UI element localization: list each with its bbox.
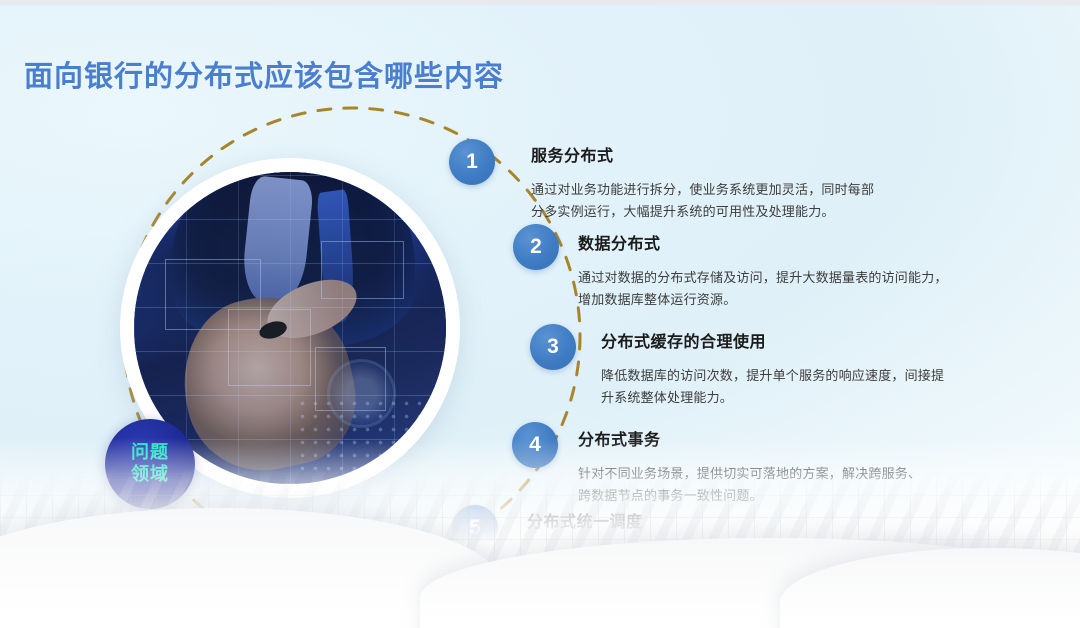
list-item-1: 服务分布式 通过对业务功能进行拆分，使业务系统更加灵活，同时每部 分多实例运行，… bbox=[531, 142, 1001, 237]
top-edge-strip bbox=[0, 0, 1080, 6]
page-title: 面向银行的分布式应该包含哪些内容 bbox=[24, 53, 504, 95]
list-item-2: 数据分布式 通过对数据的分布式存储及访问，提升大数据量表的访问能力， 增加数据库… bbox=[578, 230, 1048, 325]
item-2-body: 通过对数据的分布式存储及访问，提升大数据量表的访问能力， 增加数据库整体运行资源… bbox=[578, 267, 1048, 312]
item-3-body: 降低数据库的访问次数，提升单个服务的响应速度，间接提 升系统整体处理能力。 bbox=[601, 365, 1051, 410]
slide-canvas: 面向银行的分布式应该包含哪些内容 问题 领域 1 2 3 4 bbox=[0, 0, 1080, 628]
number-badge-3[interactable]: 3 bbox=[530, 324, 576, 370]
list-item-3: 分布式缓存的合理使用 降低数据库的访问次数，提升单个服务的响应速度，间接提 升系… bbox=[601, 328, 1051, 423]
item-2-heading: 数据分布式 bbox=[578, 230, 1048, 254]
item-3-heading: 分布式缓存的合理使用 bbox=[601, 328, 1051, 352]
item-1-heading: 服务分布式 bbox=[531, 142, 1001, 166]
bottom-landscape bbox=[0, 438, 1080, 628]
item-1-body: 通过对业务功能进行拆分，使业务系统更加灵活，同时每部 分多实例运行，大幅提升系统… bbox=[531, 179, 1001, 224]
number-badge-1[interactable]: 1 bbox=[449, 139, 495, 185]
